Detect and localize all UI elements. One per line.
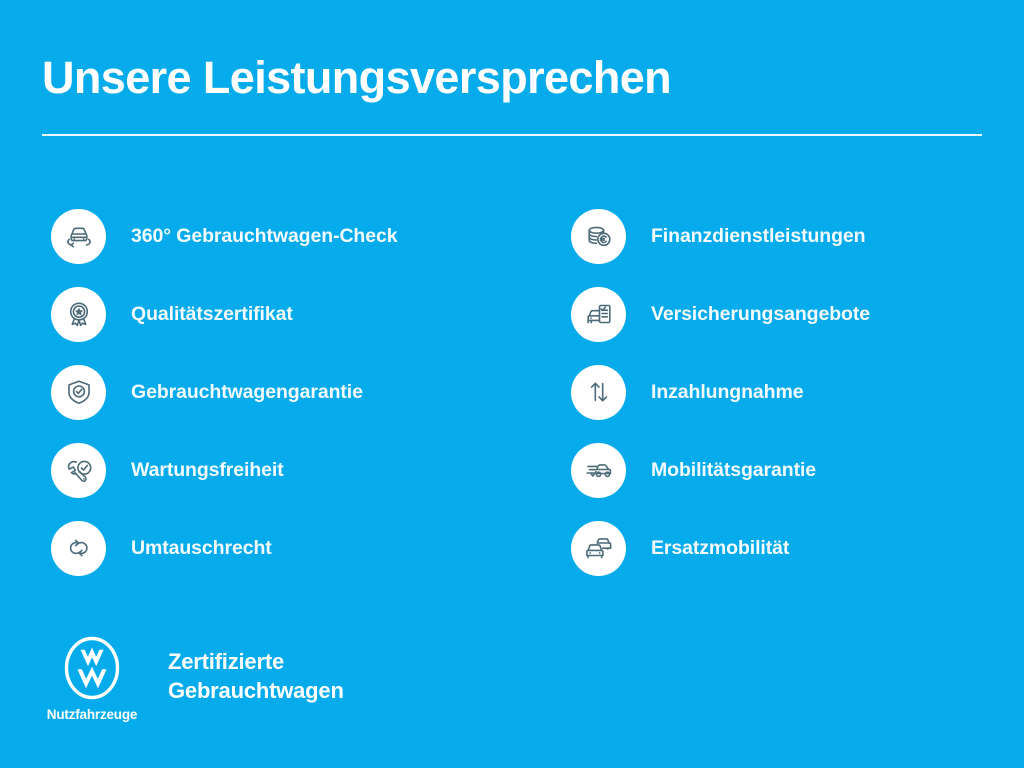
promise-item[interactable]: Gebrauchtwagengarantie: [51, 353, 571, 431]
rosette-award-icon: [51, 287, 106, 342]
promise-item[interactable]: Mobilitätsgarantie: [571, 431, 1011, 509]
promise-item[interactable]: Umtauschrecht: [51, 509, 571, 587]
promise-label: Versicherungsangebote: [651, 303, 870, 326]
vw-roundel-icon: [58, 634, 126, 702]
promise-label: Qualitätszertifikat: [131, 303, 293, 326]
promise-label: Finanzdienstleistungen: [651, 225, 865, 248]
exchange-arrows-icon: [51, 521, 106, 576]
brand-mark: Nutzfahrzeuge: [42, 634, 142, 722]
car-speed-icon: [571, 443, 626, 498]
promise-item[interactable]: Inzahlungnahme: [571, 353, 1011, 431]
promise-label: Ersatzmobilität: [651, 537, 789, 560]
header-divider: [42, 134, 982, 136]
brand-claim-line1: Zertifizierte: [168, 647, 344, 676]
promise-label: 360° Gebrauchtwagen-Check: [131, 225, 397, 248]
promise-label: Gebrauchtwagengarantie: [131, 381, 363, 404]
promise-label: Umtauschrecht: [131, 537, 272, 560]
promise-item[interactable]: Qualitätszertifikat: [51, 275, 571, 353]
page-title: Unsere Leistungsversprechen: [42, 52, 982, 104]
promises-column-right: Finanzdienstleistungen: [571, 197, 1011, 587]
header: Unsere Leistungsversprechen: [42, 52, 982, 104]
brand-lockup: Nutzfahrzeuge Zertifizierte Gebrauchtwag…: [42, 634, 344, 722]
promise-label: Wartungsfreiheit: [131, 459, 284, 482]
promise-item[interactable]: 360° Gebrauchtwagen-Check: [51, 197, 571, 275]
shield-check-icon: [51, 365, 106, 420]
promise-item[interactable]: Finanzdienstleistungen: [571, 197, 1011, 275]
promises-column-left: 360° Gebrauchtwagen-Check Qualitätszerti…: [51, 197, 571, 587]
coins-euro-icon: [571, 209, 626, 264]
promise-item[interactable]: Ersatzmobilität: [571, 509, 1011, 587]
promise-label: Inzahlungnahme: [651, 381, 803, 404]
promises-grid: 360° Gebrauchtwagen-Check Qualitätszerti…: [0, 197, 1024, 587]
brand-claim-line2: Gebrauchtwagen: [168, 676, 344, 705]
car-360-check-icon: [51, 209, 106, 264]
brand-sub-label: Nutzfahrzeuge: [47, 707, 137, 722]
promise-item[interactable]: Versicherungsangebote: [571, 275, 1011, 353]
promise-label: Mobilitätsgarantie: [651, 459, 816, 482]
two-cars-icon: [571, 521, 626, 576]
car-checklist-icon: [571, 287, 626, 342]
promise-item[interactable]: Wartungsfreiheit: [51, 431, 571, 509]
slide-root: Unsere Leistungsversprechen: [0, 0, 1024, 768]
brand-claim: Zertifizierte Gebrauchtwagen: [168, 647, 344, 705]
wrench-check-icon: [51, 443, 106, 498]
up-down-arrows-icon: [571, 365, 626, 420]
